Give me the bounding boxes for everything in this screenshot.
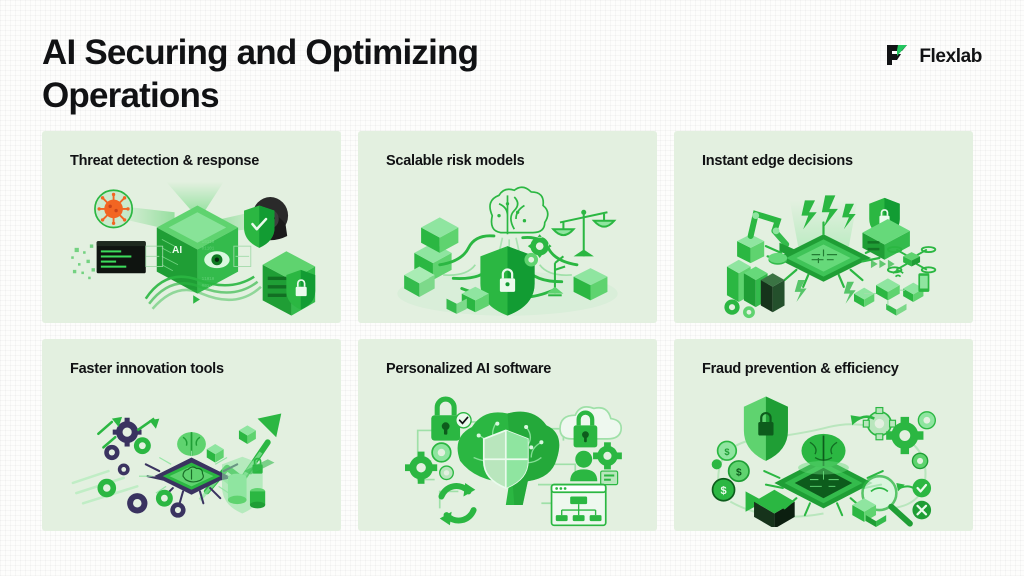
gear-icon — [104, 445, 119, 460]
gear-icon — [440, 466, 454, 480]
feature-card-fraud-prevention[interactable]: Fraud prevention & efficiency — [674, 339, 973, 531]
check-badge-icon — [912, 479, 931, 498]
gear-icon — [524, 253, 538, 267]
gear-icon — [432, 443, 451, 462]
cross-badge-icon — [912, 501, 931, 520]
svg-text:$: $ — [724, 447, 730, 457]
brand-logo: Flexlab — [884, 42, 982, 71]
card-title: Faster innovation tools — [70, 361, 341, 377]
card-title: Scalable risk models — [386, 153, 657, 169]
virus-icon — [97, 193, 129, 225]
illustration-isometric-edge-compute-chip — [674, 175, 973, 319]
iot-node-icon — [854, 278, 923, 315]
cube-icon — [754, 490, 795, 527]
feature-card-scalable-risk[interactable]: Scalable risk models — [358, 131, 657, 323]
feature-card-innovation-tools[interactable]: Faster innovation tools — [42, 339, 341, 531]
shield-icon — [244, 205, 274, 247]
illustration-isometric-fraud-detection: $ $ $ — [674, 383, 973, 527]
gear-icon — [97, 479, 116, 498]
svg-text:AI: AI — [172, 245, 182, 256]
eye-icon — [204, 251, 229, 268]
feature-card-threat-detection[interactable]: Threat detection & response — [42, 131, 341, 323]
card-title: Instant edge decisions — [702, 153, 973, 169]
slide-header: AI Securing and Optimizing Operations Fl… — [42, 32, 982, 118]
browser-window-icon — [552, 485, 606, 526]
coin-dollar-icon: $ — [713, 479, 735, 501]
cloud-lock-icon — [560, 407, 621, 447]
shield-lock-icon — [744, 397, 788, 461]
gear-icon — [918, 412, 935, 429]
dish-icon — [768, 253, 787, 265]
coin-dollar-icon: $ — [729, 461, 749, 481]
database-icon — [228, 474, 247, 504]
gear-icon — [593, 442, 622, 469]
gear-icon — [912, 453, 927, 468]
illustration-isometric-risk-model-pipeline — [358, 175, 657, 319]
feature-card-personalized-ai[interactable]: Personalized AI software — [358, 339, 657, 531]
svg-text:01101: 01101 — [202, 247, 215, 252]
settings-tile-icon — [601, 471, 618, 485]
svg-text:$: $ — [720, 485, 726, 497]
gear-icon — [118, 463, 130, 475]
illustration-isometric-innovation-growth — [42, 383, 341, 527]
svg-text:$: $ — [736, 467, 742, 478]
svg-text:10110: 10110 — [202, 240, 215, 245]
card-title: Threat detection & response — [70, 153, 341, 169]
gear-icon — [134, 437, 151, 454]
flexlab-logo-mark-icon — [884, 42, 910, 71]
brain-icon — [798, 434, 849, 475]
terminal-window-icon — [97, 241, 146, 273]
card-title: Fraud prevention & efficiency — [702, 361, 973, 377]
slide-canvas: AI Securing and Optimizing Operations Fl… — [0, 0, 1024, 576]
coin-dollar-icon: $ — [718, 441, 737, 460]
card-title: Personalized AI software — [386, 361, 657, 377]
feature-card-edge-decisions[interactable]: Instant edge decisions — [674, 131, 973, 323]
shield-icon — [484, 430, 528, 488]
gear-icon — [127, 493, 147, 513]
check-badge-icon — [456, 413, 471, 428]
gear-icon — [170, 502, 185, 517]
page-title: AI Securing and Optimizing Operations — [42, 32, 662, 117]
brain-icon — [490, 187, 548, 234]
brand-name: Flexlab — [919, 46, 982, 68]
feature-card-grid: Threat detection & response — [42, 131, 973, 531]
illustration-brain-shield-network — [358, 383, 657, 527]
gear-icon — [156, 490, 173, 507]
illustration-isometric-ai-security-cube: AI 1011 — [42, 175, 341, 319]
database-icon — [250, 488, 265, 508]
wifi-icon — [893, 271, 903, 277]
